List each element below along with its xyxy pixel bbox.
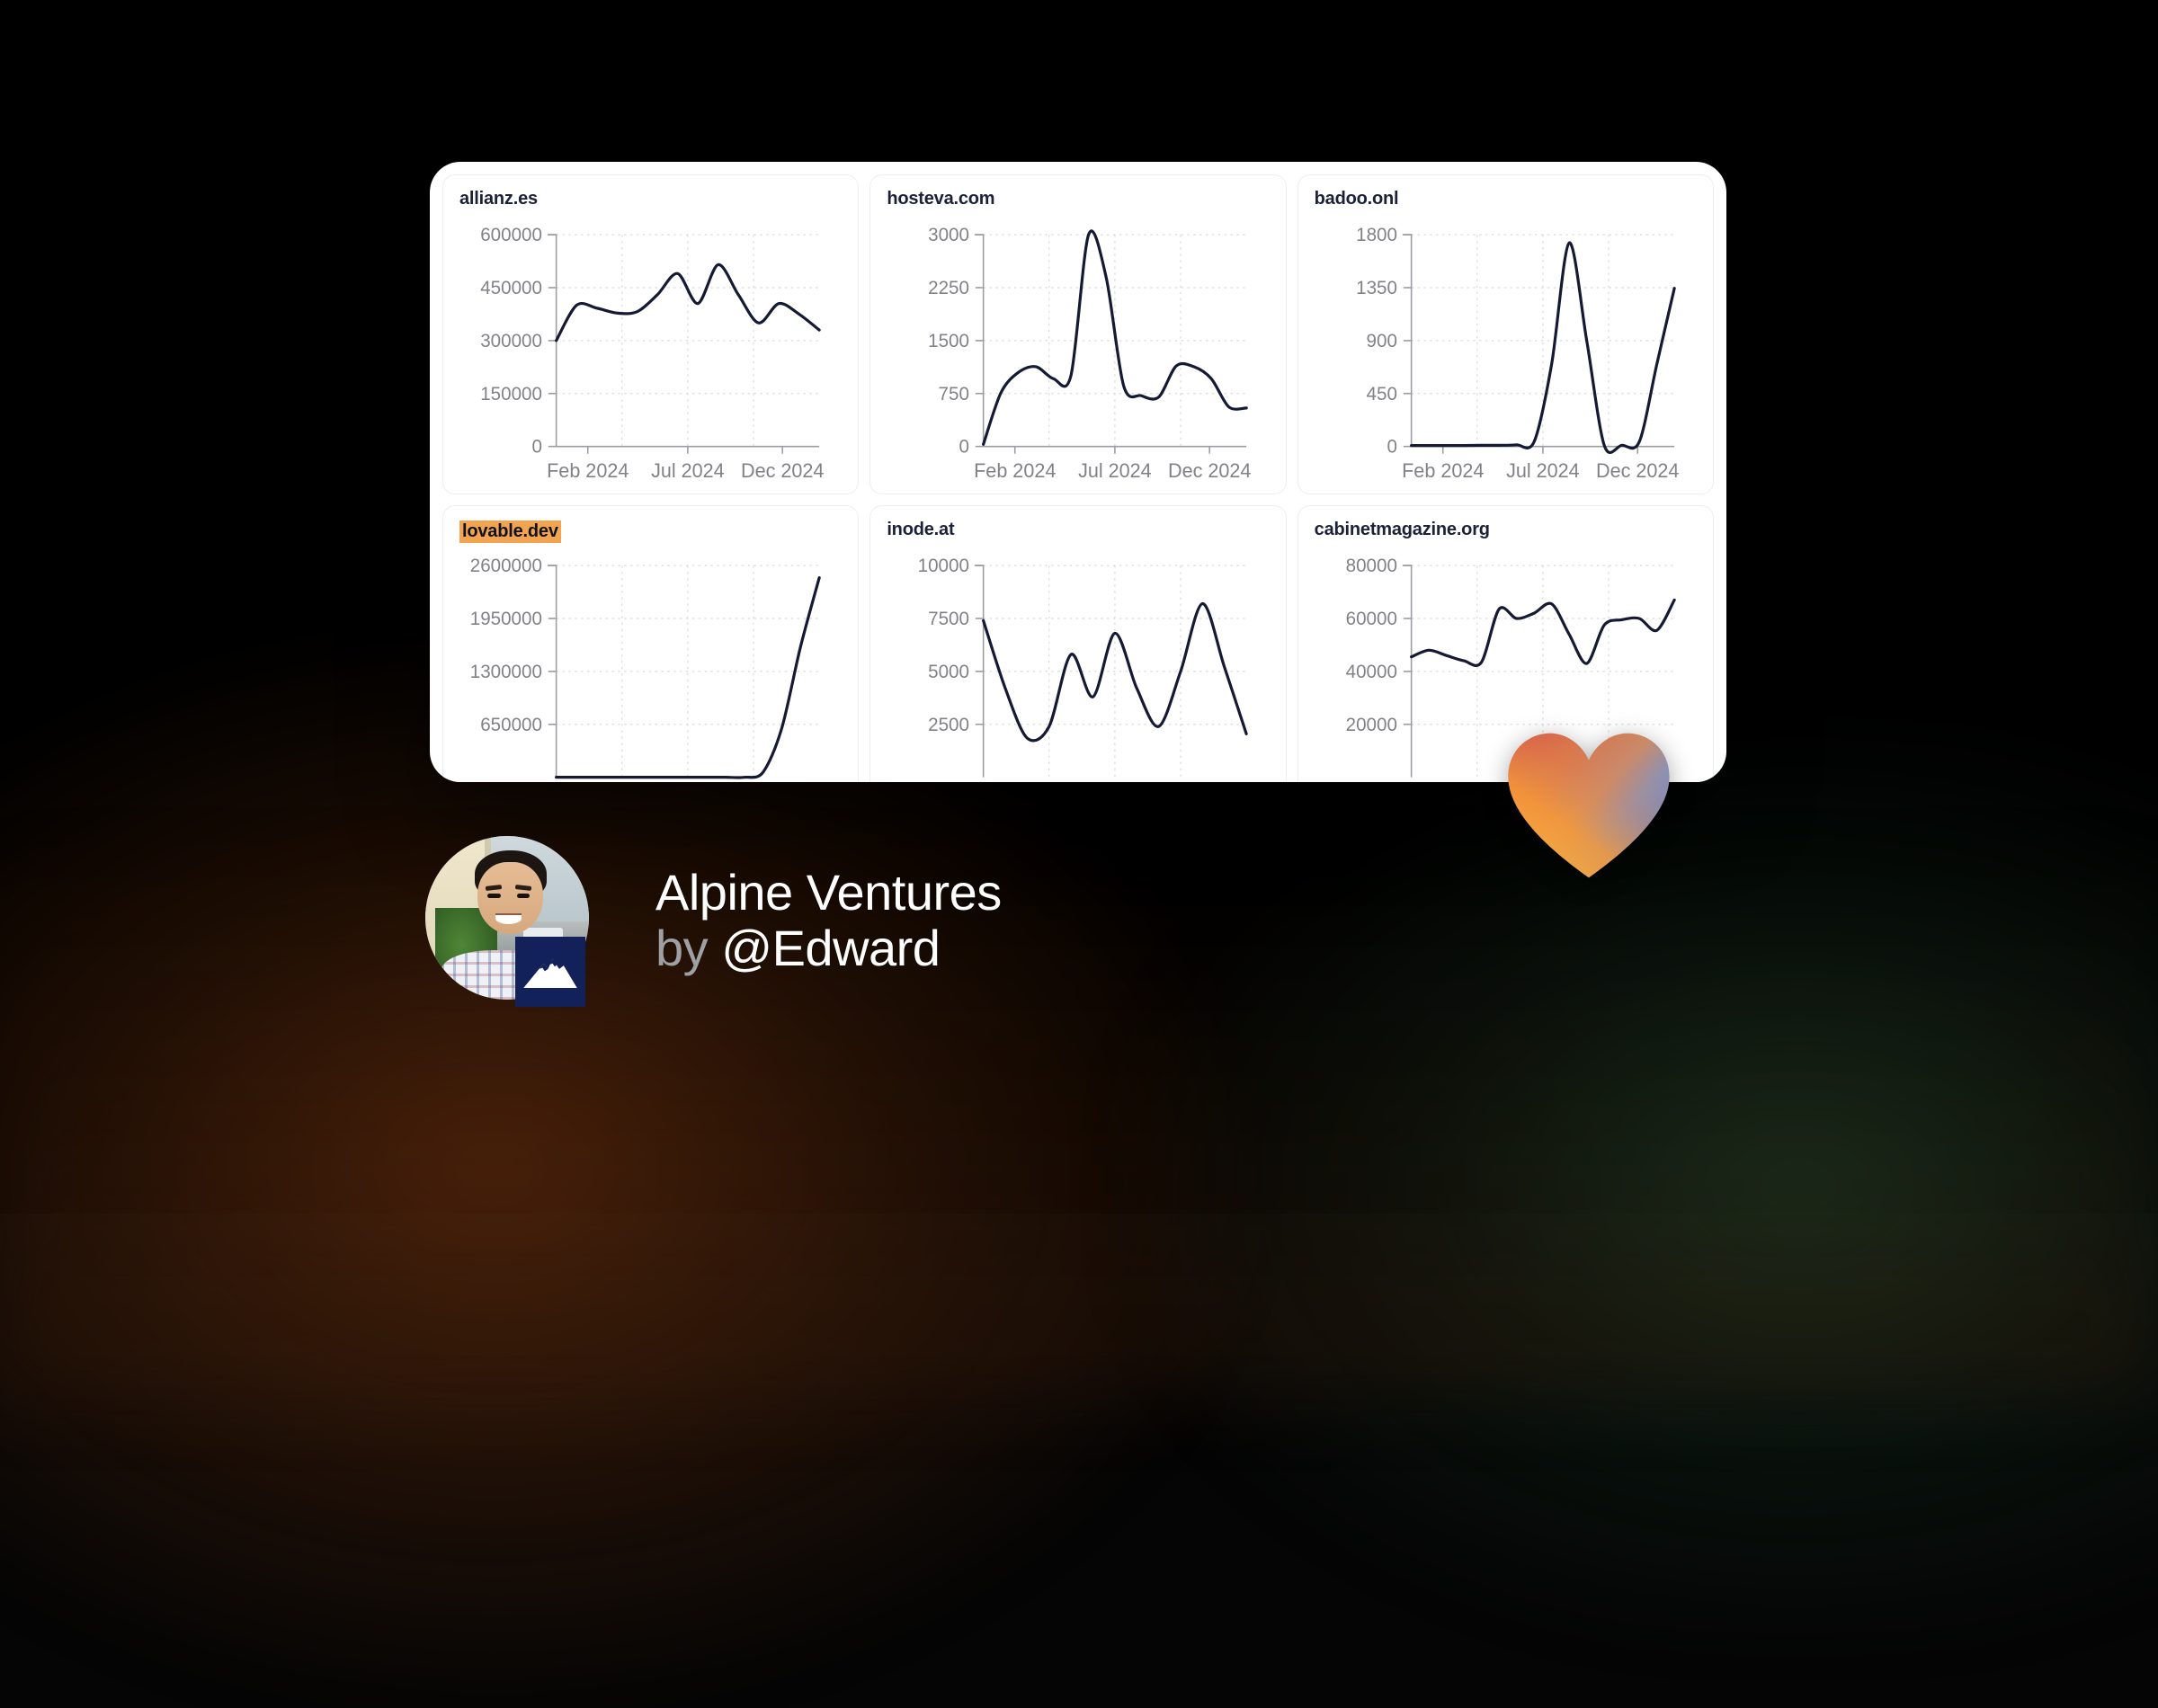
chart-plot: 25005000750010000 (870, 553, 1285, 782)
chart-title: allianz.es (459, 190, 538, 208)
svg-text:1800: 1800 (1356, 225, 1397, 245)
svg-text:80000: 80000 (1345, 556, 1396, 576)
chart-plot: 0750150022503000Feb 2024Jul 2024Dec 2024 (870, 222, 1285, 494)
svg-text:2250: 2250 (928, 278, 969, 298)
svg-text:Dec 2024: Dec 2024 (1168, 459, 1251, 482)
bottom-glow-decoration (0, 836, 2158, 1393)
svg-text:Jul 2024: Jul 2024 (1078, 459, 1152, 482)
avatar-stack (425, 836, 589, 1007)
chart-title: cabinetmagazine.org (1315, 520, 1490, 538)
chart-card[interactable]: inode.at25005000750010000 (869, 505, 1286, 782)
chart-title: inode.at (887, 520, 954, 538)
org-name: Alpine Ventures (655, 866, 1002, 920)
svg-text:40000: 40000 (1345, 662, 1396, 682)
svg-text:300000: 300000 (480, 331, 542, 351)
dashboard-panel: allianz.es0150000300000450000600000Feb 2… (430, 162, 1726, 782)
mountain-icon (515, 937, 585, 1007)
chart-card[interactable]: badoo.onl045090013501800Feb 2024Jul 2024… (1297, 174, 1714, 494)
byline: by @Edward (655, 921, 1002, 977)
svg-text:Feb 2024: Feb 2024 (547, 459, 629, 482)
svg-text:1300000: 1300000 (470, 662, 542, 682)
svg-text:7500: 7500 (928, 609, 969, 629)
svg-text:650000: 650000 (480, 715, 542, 735)
chart-plot: 045090013501800Feb 2024Jul 2024Dec 2024 (1298, 222, 1713, 494)
author-footer: Alpine Ventures by @Edward (425, 836, 1002, 1007)
svg-text:150000: 150000 (480, 384, 542, 405)
svg-text:2500: 2500 (928, 715, 969, 735)
author-handle: @Edward (721, 920, 940, 976)
svg-text:Jul 2024: Jul 2024 (1506, 459, 1580, 482)
svg-text:600000: 600000 (480, 225, 542, 245)
svg-text:0: 0 (959, 436, 969, 457)
by-word: by (655, 920, 708, 976)
chart-title: hosteva.com (887, 190, 994, 208)
svg-text:3000: 3000 (928, 225, 969, 245)
svg-text:1350: 1350 (1356, 278, 1397, 298)
svg-text:1950000: 1950000 (470, 609, 542, 629)
svg-text:Feb 2024: Feb 2024 (974, 459, 1056, 482)
svg-text:2600000: 2600000 (470, 556, 542, 576)
chart-card[interactable]: hosteva.com0750150022503000Feb 2024Jul 2… (869, 174, 1286, 494)
chart-grid: allianz.es0150000300000450000600000Feb 2… (430, 162, 1726, 782)
chart-plot: 650000130000019500002600000 (443, 553, 858, 782)
chart-title: lovable.dev (459, 520, 561, 543)
svg-text:5000: 5000 (928, 662, 969, 682)
svg-text:1500: 1500 (928, 331, 969, 351)
svg-text:Jul 2024: Jul 2024 (651, 459, 725, 482)
author-names: Alpine Ventures by @Edward (655, 866, 1002, 976)
heart-icon (1503, 730, 1674, 881)
svg-text:0: 0 (531, 436, 541, 457)
svg-text:900: 900 (1366, 331, 1396, 351)
svg-text:750: 750 (939, 384, 969, 405)
svg-text:10000: 10000 (918, 556, 969, 576)
chart-plot: 0150000300000450000600000Feb 2024Jul 202… (443, 222, 858, 494)
chart-card[interactable]: lovable.dev650000130000019500002600000 (442, 505, 859, 782)
svg-text:20000: 20000 (1345, 715, 1396, 735)
chart-card[interactable]: allianz.es0150000300000450000600000Feb 2… (442, 174, 859, 494)
svg-text:450: 450 (1366, 384, 1396, 405)
svg-text:60000: 60000 (1345, 609, 1396, 629)
svg-text:Dec 2024: Dec 2024 (1596, 459, 1679, 482)
svg-text:Dec 2024: Dec 2024 (741, 459, 824, 482)
chart-title: badoo.onl (1315, 190, 1399, 208)
svg-text:Feb 2024: Feb 2024 (1402, 459, 1484, 482)
svg-text:450000: 450000 (480, 278, 542, 298)
svg-text:0: 0 (1387, 436, 1396, 457)
